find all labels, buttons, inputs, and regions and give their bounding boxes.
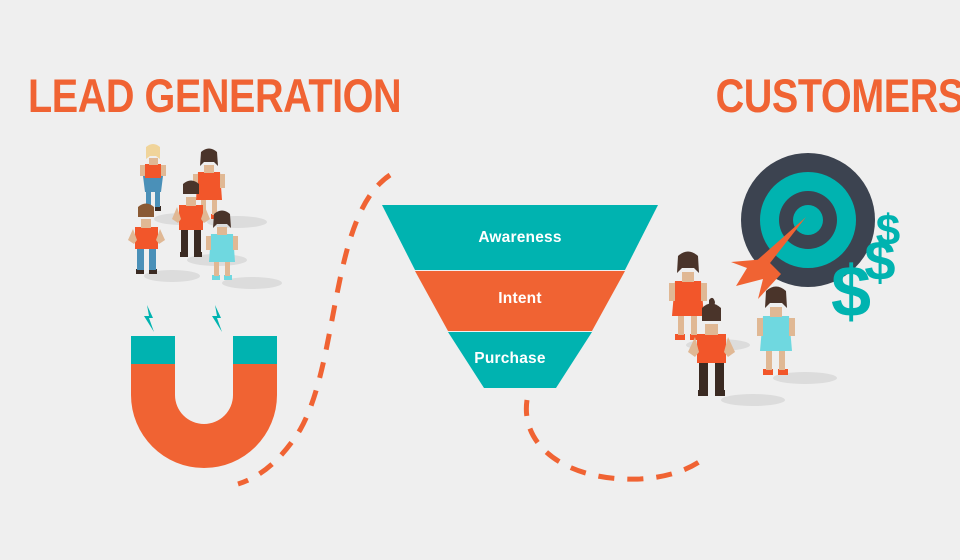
infographic-canvas: LEAD GENERATION CUSTOMERS <box>0 0 960 560</box>
customer-orange-dress <box>669 252 707 341</box>
customer-teal-dress <box>757 287 795 376</box>
customer-people-group <box>0 0 960 560</box>
